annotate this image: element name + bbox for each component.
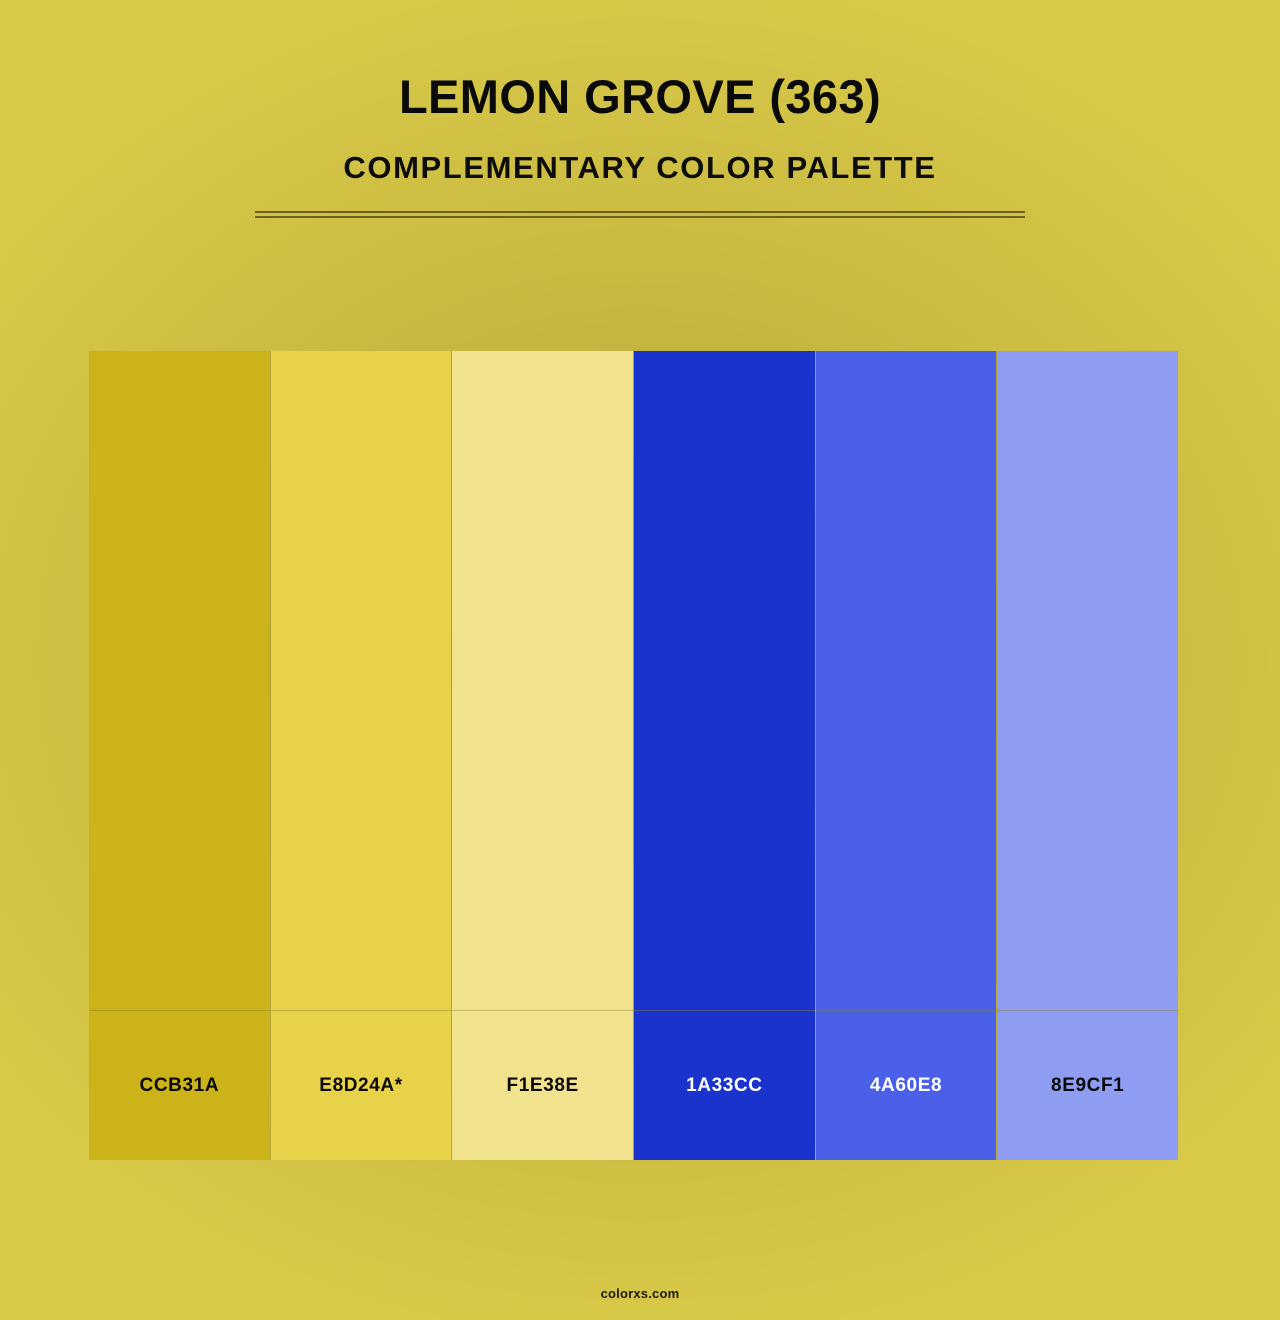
swatch-hex-3: F1E38E (507, 1076, 579, 1095)
swatch-hex-4: 1A33CC (686, 1076, 762, 1095)
site-credit: colorxs.com (0, 1286, 1280, 1301)
swatch-color-1[interactable] (89, 351, 270, 1010)
swatch-hex-1: CCB31A (140, 1076, 220, 1095)
swatch-color-4[interactable] (634, 351, 815, 1010)
swatch-label-cell-3[interactable]: F1E38E (452, 1010, 633, 1160)
swatch-column-4[interactable]: 1A33CC (634, 351, 816, 1160)
swatch-hex-6: 8E9CF1 (1051, 1076, 1124, 1095)
swatch-column-5[interactable]: 4A60E8 (816, 351, 998, 1160)
swatch-label-cell-2[interactable]: E8D24A* (271, 1010, 452, 1160)
swatch-label-cell-1[interactable]: CCB31A (89, 1010, 270, 1160)
divider-rule-top (255, 211, 1025, 213)
page-title: LEMON GROVE (363) (0, 72, 1280, 121)
swatch-label-cell-6[interactable]: 8E9CF1 (997, 1010, 1178, 1160)
swatch-color-5[interactable] (816, 351, 997, 1010)
color-palette: CCB31A E8D24A* F1E38E 1A33CC 4A60E8 (89, 351, 1178, 1160)
header-divider (255, 211, 1025, 218)
swatch-color-2[interactable] (271, 351, 452, 1010)
swatch-color-3[interactable] (452, 351, 633, 1010)
swatch-hex-2: E8D24A* (319, 1076, 402, 1095)
page-subtitle: COMPLEMENTARY COLOR PALETTE (0, 151, 1280, 185)
divider-rule-bottom (255, 216, 1025, 218)
header: LEMON GROVE (363) COMPLEMENTARY COLOR PA… (0, 0, 1280, 218)
swatch-column-3[interactable]: F1E38E (452, 351, 634, 1160)
swatch-column-2[interactable]: E8D24A* (271, 351, 453, 1160)
swatch-label-cell-5[interactable]: 4A60E8 (816, 1010, 997, 1160)
swatch-column-1[interactable]: CCB31A (89, 351, 271, 1160)
swatch-column-6[interactable]: 8E9CF1 (997, 351, 1178, 1160)
swatch-color-6[interactable] (997, 351, 1178, 1010)
palette-page: LEMON GROVE (363) COMPLEMENTARY COLOR PA… (0, 0, 1280, 1320)
swatch-hex-5: 4A60E8 (870, 1076, 942, 1095)
swatch-label-cell-4[interactable]: 1A33CC (634, 1010, 815, 1160)
